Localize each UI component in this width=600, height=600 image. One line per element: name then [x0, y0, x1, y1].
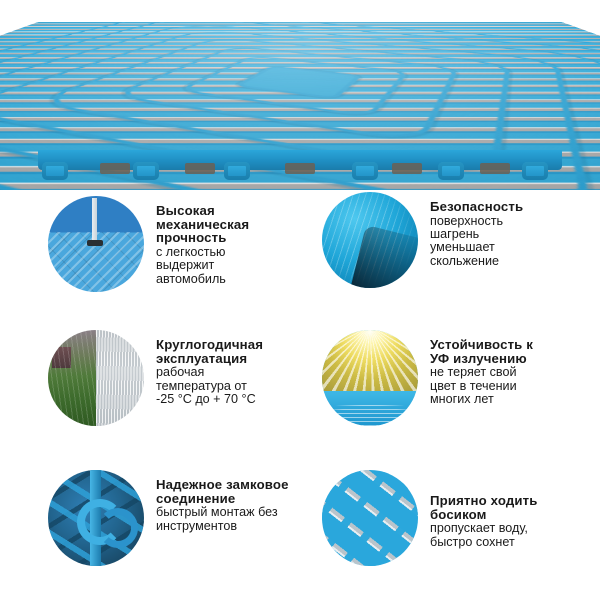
feature-text: Приятно ходить босиком пропускает воду, …	[430, 470, 538, 549]
tile-stage	[0, 0, 600, 190]
feature-item-lock-connection: Надежное замковое соединение быстрый мон…	[48, 470, 323, 566]
tile-connector-nub	[438, 162, 464, 180]
feature-subtitle: пропускает воду, быстро сохнет	[430, 522, 538, 549]
feature-subtitle: поверхность шагрень уменьшает скольжение	[430, 215, 523, 269]
feature-text: Надежное замковое соединение быстрый мон…	[156, 470, 289, 533]
feature-subtitle: рабочая температура от -25 °С до + 70 °С	[156, 366, 263, 406]
strength-thumbnail-icon	[48, 196, 144, 292]
tile-edge-gap	[100, 163, 130, 174]
product-hero-image	[0, 0, 600, 190]
feature-title: Круглогодичная эксплуатация	[156, 338, 263, 365]
lock-thumbnail-icon	[48, 470, 144, 566]
tile-edge-gap	[392, 163, 422, 174]
tile-ring	[108, 46, 459, 143]
feature-title: Приятно ходить босиком	[430, 494, 538, 521]
feature-title: Высокая механическая прочность	[156, 204, 249, 245]
feature-text: Безопасность поверхность шагрень уменьша…	[430, 192, 523, 268]
uv-thumbnail-icon	[322, 330, 418, 426]
tile-ring	[176, 56, 410, 118]
tile-connector-nub	[42, 162, 68, 180]
feature-item-safety: Безопасность поверхность шагрень уменьша…	[322, 192, 592, 288]
tile-edge-gap	[480, 163, 510, 174]
product-infographic: Высокая механическая прочность с легкост…	[0, 0, 600, 600]
tile-connector-nub	[133, 162, 159, 180]
tile-connector-nub	[522, 162, 548, 180]
feature-text: Высокая механическая прочность с легкост…	[156, 196, 249, 286]
safety-thumbnail-icon	[322, 192, 418, 288]
tile-ring-center	[234, 66, 362, 99]
feature-item-uv-resistance: Устойчивость к УФ излучению не теряет св…	[322, 330, 597, 426]
tile-connector-nub	[352, 162, 378, 180]
feature-subtitle: с легкостью выдержит автомобиль	[156, 246, 249, 286]
feature-text: Устойчивость к УФ излучению не теряет св…	[430, 330, 533, 406]
feature-title: Надежное замковое соединение	[156, 478, 289, 505]
feature-text: Круглогодичная эксплуатация рабочая темп…	[156, 330, 263, 406]
feature-subtitle: быстрый монтаж без инструментов	[156, 506, 289, 533]
tile-edge-gap	[185, 163, 215, 174]
tile-connector-nub	[224, 162, 250, 180]
feature-subtitle: не теряет свой цвет в течении многих лет	[430, 366, 533, 406]
season-thumbnail-icon	[48, 330, 144, 426]
feature-grid: Высокая механическая прочность с легкост…	[0, 188, 600, 600]
feature-item-year-round-use: Круглогодичная эксплуатация рабочая темп…	[48, 330, 318, 426]
tile-edge-gap	[285, 163, 315, 174]
feature-item-barefoot-comfort: Приятно ходить босиком пропускает воду, …	[322, 470, 594, 566]
barefoot-thumbnail-icon	[322, 470, 418, 566]
feature-title: Устойчивость к УФ излучению	[430, 338, 533, 365]
feature-title: Безопасность	[430, 200, 523, 214]
feature-item-mechanical-strength: Высокая механическая прочность с легкост…	[48, 196, 308, 292]
